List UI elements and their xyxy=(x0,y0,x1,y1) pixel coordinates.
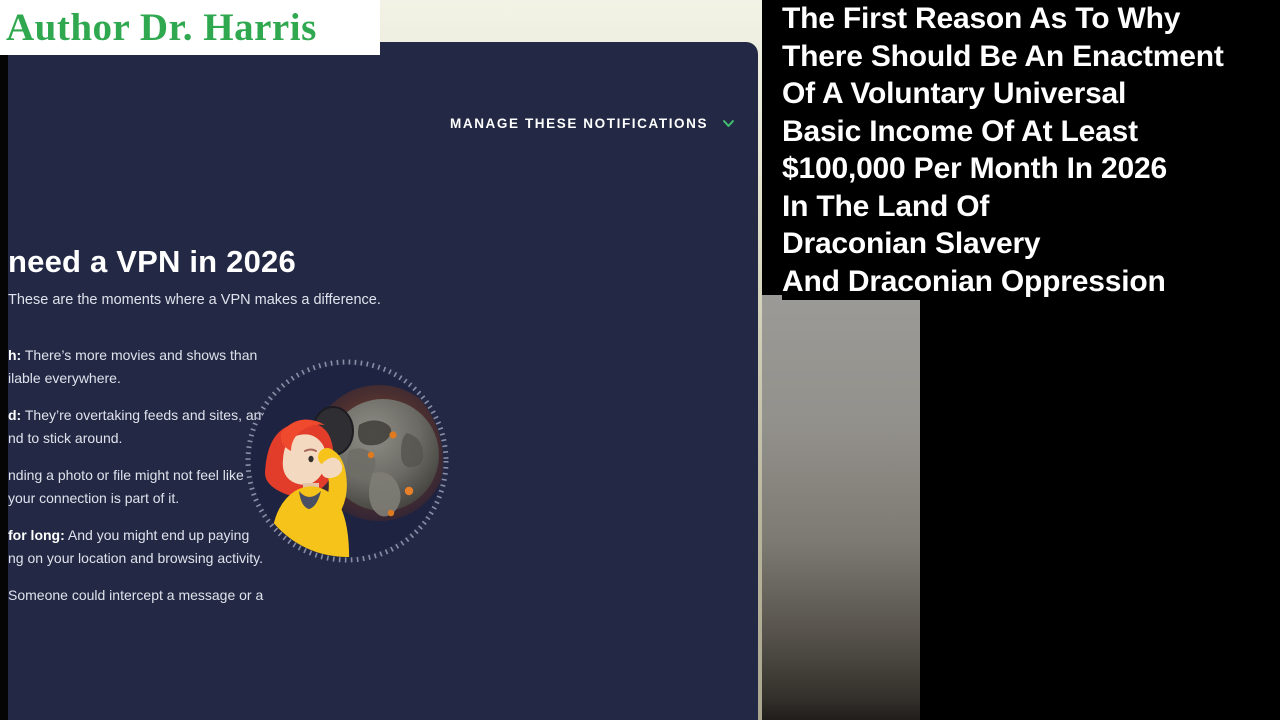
list-item-lead: h: xyxy=(8,347,21,363)
list-item-line2: ng on your location and browsing activit… xyxy=(8,550,263,566)
caption-line: There Should Be An Enactment xyxy=(782,38,1230,76)
list-item-line1: nding a photo or file might not feel lik… xyxy=(8,467,244,483)
caption-line: Draconian Slavery xyxy=(782,225,1046,263)
list-item-line2: your connection is part of it. xyxy=(8,490,179,506)
woman-with-magnifying-glass-and-globe-illustration xyxy=(241,355,453,567)
vpn-notification-card: MANAGE THESE NOTIFICATIONS need a VPN in… xyxy=(8,42,758,720)
webcam-video-strip xyxy=(762,295,920,720)
caption-line: Of A Voluntary Universal xyxy=(782,75,1132,113)
list-item-line1: They’re overtaking feeds and sites, and xyxy=(25,407,269,423)
list-item-line2: nd to stick around. xyxy=(8,430,122,446)
list-item-line1: And you might end up paying xyxy=(68,527,249,543)
page-subtitle: These are the moments where a VPN makes … xyxy=(8,292,381,308)
page-title: need a VPN in 2026 xyxy=(8,244,296,280)
caption-overlay: The First Reason As To Why There Should … xyxy=(782,0,1280,300)
manage-notifications-control[interactable]: MANAGE THESE NOTIFICATIONS xyxy=(450,116,735,131)
author-banner: Author Dr. Harris xyxy=(0,0,380,55)
caption-line: $100,000 Per Month In 2026 xyxy=(782,150,1173,188)
caption-line: The First Reason As To Why xyxy=(782,0,1186,38)
author-name: Author Dr. Harris xyxy=(0,5,317,50)
caption-line: In The Land Of xyxy=(782,188,995,226)
list-item-lead: for long: xyxy=(8,527,65,543)
screen-recording-frame: MANAGE THESE NOTIFICATIONS need a VPN in… xyxy=(0,0,1280,720)
caption-line: Basic Income Of At Least xyxy=(782,113,1144,151)
list-item: Someone could intercept a message or a xyxy=(8,584,478,607)
manage-notifications-label: MANAGE THESE NOTIFICATIONS xyxy=(450,116,708,131)
chevron-down-icon[interactable] xyxy=(722,117,735,130)
list-item-line1: Someone could intercept a message or a xyxy=(8,587,263,603)
list-item-line1: There’s more movies and shows than xyxy=(25,347,257,363)
caption-line: And Draconian Oppression xyxy=(782,263,1172,301)
list-item-line2: ilable everywhere. xyxy=(8,370,121,386)
list-item-lead: d: xyxy=(8,407,21,423)
left-black-bar xyxy=(0,0,8,720)
vpn-card-content: MANAGE THESE NOTIFICATIONS need a VPN in… xyxy=(8,42,758,720)
